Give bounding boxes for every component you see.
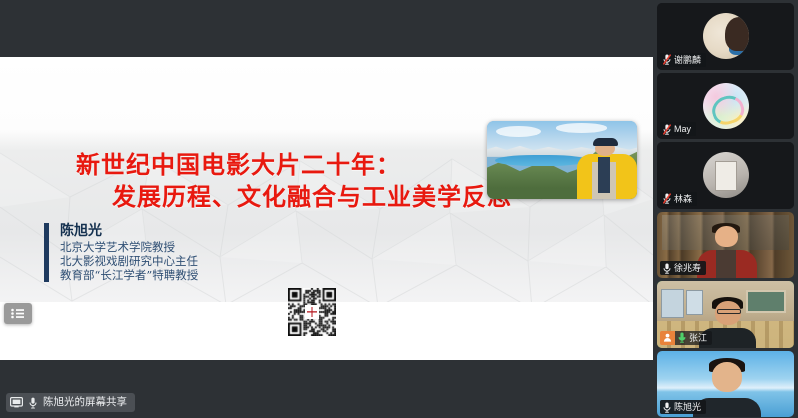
participant-label-body: 谢鹏麟	[660, 53, 706, 67]
microphone-icon	[663, 263, 671, 274]
host-person-icon	[660, 331, 675, 345]
video-layer	[661, 289, 684, 318]
video-layer	[746, 290, 786, 313]
microphone-muted-icon	[663, 193, 671, 204]
presenter-self-view-thumbnail[interactable]	[487, 121, 637, 199]
microphone-muted-icon	[663, 124, 671, 135]
participant-name: 林森	[674, 192, 692, 206]
participant-label-body: 张江	[675, 331, 712, 345]
video-layer	[717, 309, 741, 314]
participant-name: 张江	[689, 331, 707, 345]
avatar	[703, 13, 749, 59]
participant-tile[interactable]: 陈旭光	[657, 351, 794, 418]
avatar	[703, 83, 749, 129]
microphone-icon	[29, 397, 37, 409]
presentation-slide: 新世纪中国电影大片二十年： 发展历程、文化融合与工业美学反思 陈旭光 北京大学艺…	[0, 57, 653, 360]
speaker-info: 陈旭光 北京大学艺术学院教授 北大影视戏剧研究中心主任 教育部“长江学者”特聘教…	[44, 223, 198, 282]
host-person-glyph	[663, 333, 672, 342]
participant-label: 谢鹏麟	[660, 53, 706, 67]
avatar	[703, 152, 749, 198]
video-layer	[716, 250, 737, 278]
participant-label: 林森	[660, 192, 697, 206]
participant-label: 徐兆寿	[660, 261, 706, 275]
participant-tile[interactable]: 林森	[657, 142, 794, 209]
participant-label: 张江	[660, 331, 712, 345]
screen-share-status-label: 陈旭光的屏幕共享	[43, 393, 127, 412]
participant-name: 徐兆寿	[674, 261, 701, 275]
participant-name: 谢鹏麟	[674, 53, 701, 67]
video-layer	[712, 362, 742, 391]
participant-filmstrip[interactable]: 谢鹏麟May林森徐兆寿张江陈旭光	[653, 0, 798, 418]
participant-tile[interactable]: May	[657, 73, 794, 140]
speaker-name: 陈旭光	[60, 223, 198, 239]
red-cross-logo-icon	[307, 307, 317, 317]
participant-tile[interactable]: 谢鹏麟	[657, 3, 794, 70]
participant-label-body: 徐兆寿	[660, 261, 706, 275]
participant-label: May	[660, 122, 696, 136]
shared-screen-stage: 新世纪中国电影大片二十年： 发展历程、文化融合与工业美学反思 陈旭光 北京大学艺…	[0, 0, 653, 418]
participant-label: 陈旭光	[660, 400, 706, 414]
screen-share-icon	[10, 397, 23, 408]
speaker-affiliation-1: 北京大学艺术学院教授	[60, 240, 198, 254]
participant-tile[interactable]: 张江	[657, 281, 794, 348]
microphone-icon	[663, 402, 671, 413]
microphone-muted-icon	[663, 54, 671, 65]
screen-share-status-bar[interactable]: 陈旭光的屏幕共享	[6, 393, 135, 412]
speaker-affiliation-2: 北大影视戏剧研究中心主任	[60, 254, 198, 268]
participant-label-body: 林森	[660, 192, 697, 206]
participant-tile[interactable]: 徐兆寿	[657, 212, 794, 279]
list-menu-icon[interactable]	[4, 303, 32, 324]
microphone-icon	[678, 332, 686, 343]
video-conference-window: 新世纪中国电影大片二十年： 发展历程、文化融合与工业美学反思 陈旭光 北京大学艺…	[0, 0, 798, 418]
participant-name: May	[674, 122, 691, 136]
video-layer	[686, 290, 703, 315]
participant-label-body: May	[660, 122, 696, 136]
participant-name: 陈旭光	[674, 400, 701, 414]
video-layer	[715, 226, 738, 247]
qr-code	[288, 288, 336, 336]
participant-label-body: 陈旭光	[660, 400, 706, 414]
qr-code-center-logo	[305, 305, 319, 319]
list-menu-glyph	[10, 308, 26, 319]
speaker-affiliation-3: 教育部“长江学者”特聘教授	[60, 268, 198, 282]
